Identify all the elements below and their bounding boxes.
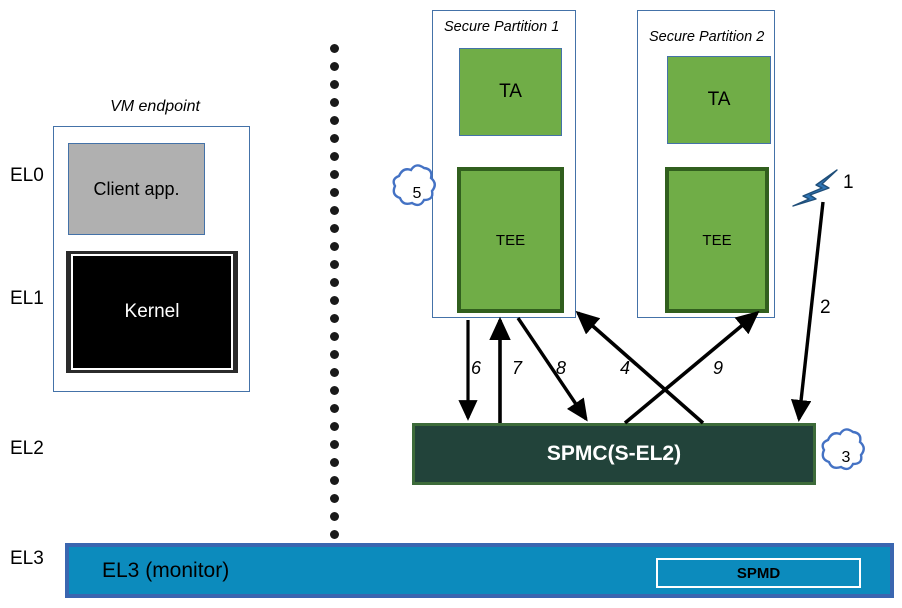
tee-label: TEE — [702, 232, 731, 249]
el-label-el3: EL3 — [10, 548, 44, 570]
arrow-label-2: 2 — [820, 297, 831, 319]
secure-partition-1-ta-box: TA — [459, 48, 562, 136]
kernel-label: Kernel — [125, 301, 180, 323]
secure-partition-2-ta-box: TA — [667, 56, 771, 144]
kernel-inner-frame: Kernel — [71, 254, 233, 370]
secure-partition-1-title: Secure Partition 1 — [444, 19, 559, 35]
secure-partition-2-title: Secure Partition 2 — [649, 29, 764, 45]
arrow-4-path — [578, 313, 703, 423]
arrow-label-7: 7 — [512, 358, 522, 379]
arrow-label-9: 9 — [713, 358, 723, 379]
el-label-el1: EL1 — [10, 288, 44, 310]
spmc-box: SPMC(S-EL2) — [412, 423, 816, 485]
callout-5: 5 — [395, 172, 439, 216]
kernel-box: Kernel — [66, 251, 238, 373]
secure-world-divider — [330, 44, 344, 539]
vm-endpoint-box: Client app. Kernel — [53, 126, 250, 392]
el-label-el0: EL0 — [10, 165, 44, 187]
secure-partition-1-tee-box: TEE — [457, 167, 564, 313]
tee-label: TEE — [496, 232, 525, 249]
arrow-9-path — [625, 313, 757, 423]
callout-3-label: 3 — [824, 436, 868, 480]
el3-monitor-label: EL3 (monitor) — [102, 559, 229, 583]
spmc-label: SPMC(S-EL2) — [547, 442, 681, 466]
spmd-label: SPMD — [737, 565, 780, 582]
vm-endpoint-title: VM endpoint — [60, 98, 250, 116]
secure-partition-2-box: Secure Partition 2 TA TEE — [637, 10, 775, 318]
el3-monitor-bar: EL3 (monitor) SPMD — [65, 543, 894, 598]
client-app-box: Client app. — [68, 143, 205, 235]
arrow-8-path — [518, 318, 586, 419]
callout-5-label: 5 — [395, 172, 439, 216]
spmd-box: SPMD — [656, 558, 861, 588]
ta-label: TA — [499, 81, 522, 103]
lightning-bolt-icon — [793, 170, 837, 206]
arrow-label-8: 8 — [556, 358, 566, 379]
interrupt-label-1: 1 — [843, 172, 854, 194]
callout-3: 3 — [824, 436, 868, 480]
arrow-label-6: 6 — [471, 358, 481, 379]
el-label-el2: EL2 — [10, 438, 44, 460]
secure-partition-2-tee-box: TEE — [665, 167, 769, 313]
ta-label: TA — [708, 89, 731, 111]
client-app-label: Client app. — [93, 179, 179, 200]
secure-partition-1-box: Secure Partition 1 TA TEE — [432, 10, 576, 318]
diagram-canvas: EL0 EL1 EL2 EL3 VM endpoint Client app. … — [0, 0, 902, 608]
arrow-label-4: 4 — [620, 358, 630, 379]
